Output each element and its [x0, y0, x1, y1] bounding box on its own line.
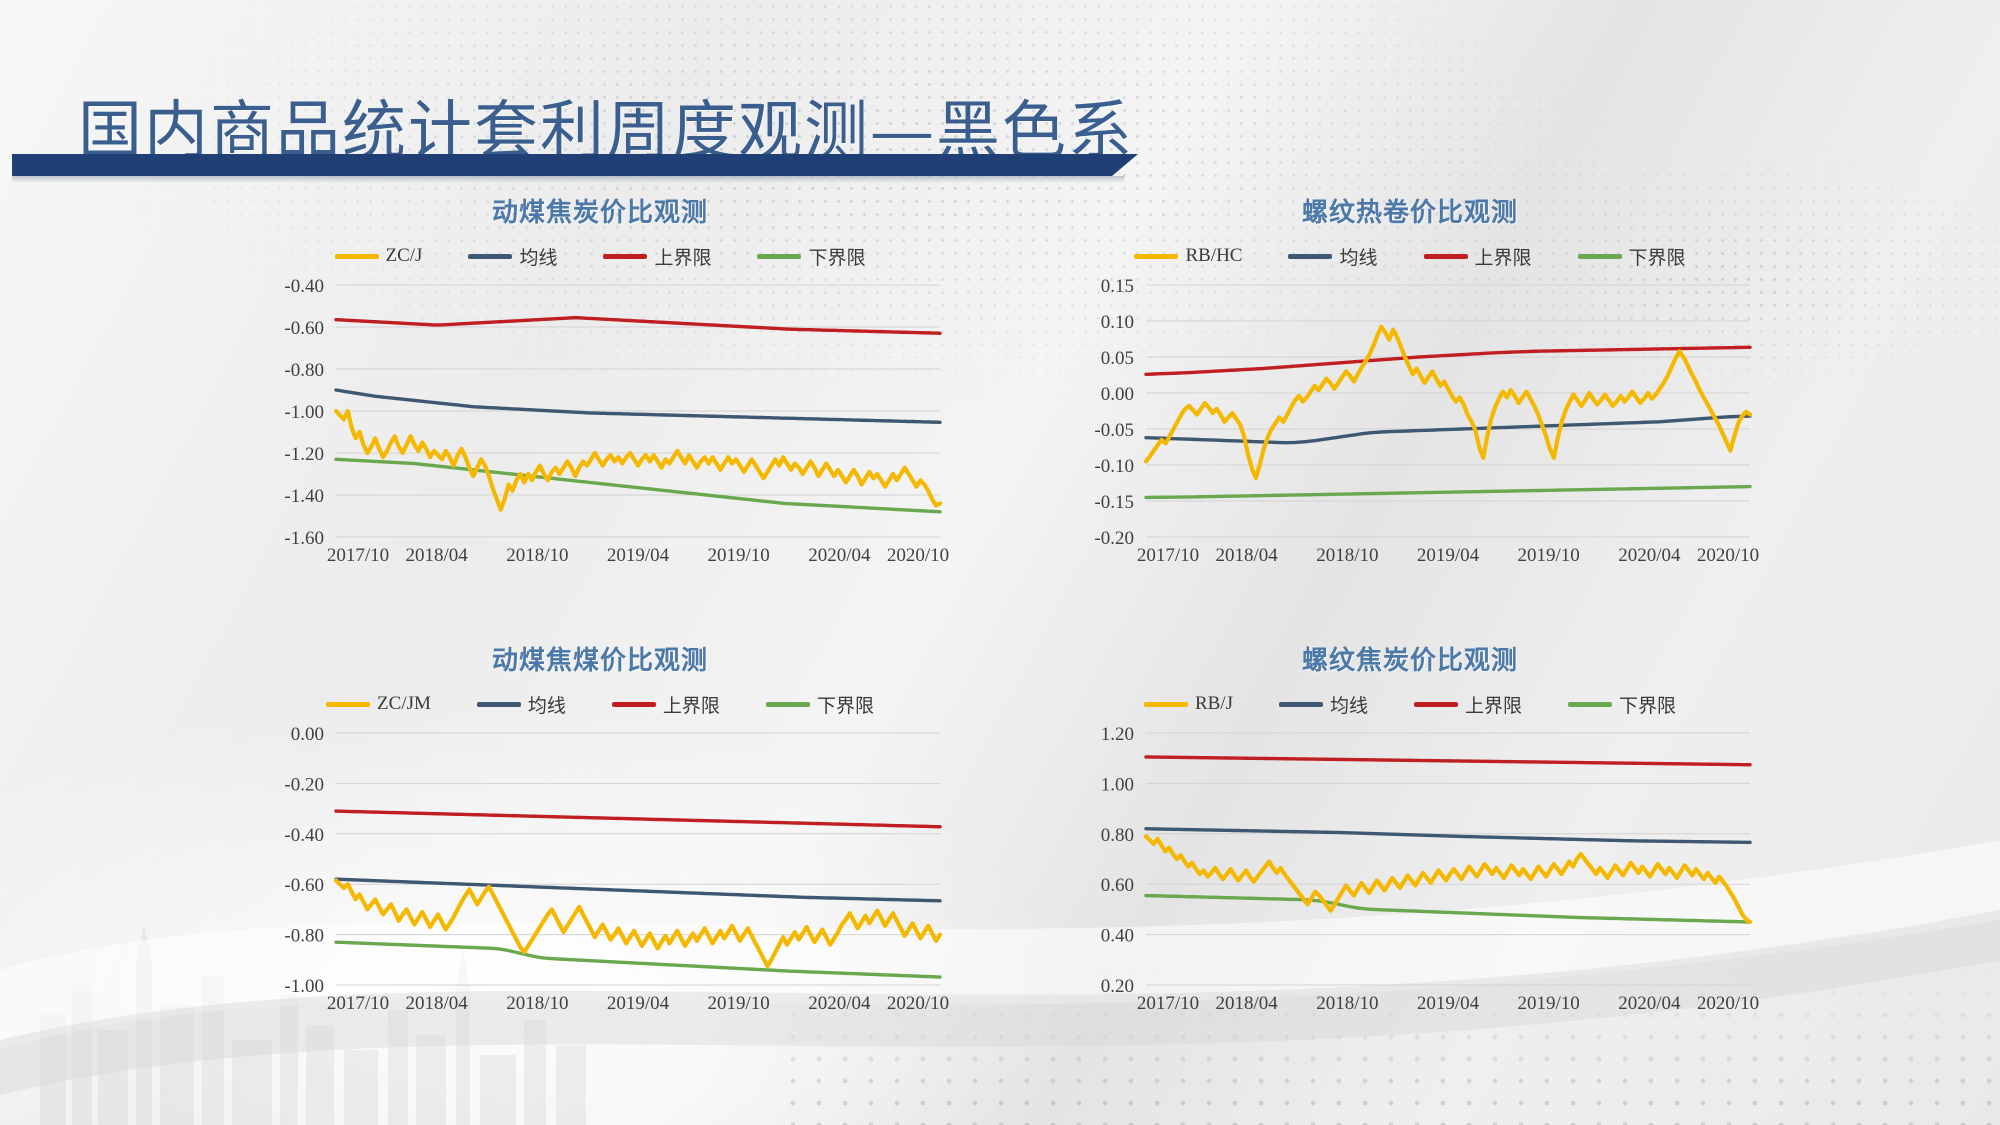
legend-item[interactable]: 均线: [1288, 243, 1377, 270]
legend-item[interactable]: 上界限: [1424, 243, 1532, 270]
legend-item[interactable]: RB/HC: [1134, 245, 1242, 267]
legend-swatch-icon: [1144, 702, 1188, 707]
y-axis-tick-label: 0.80: [1101, 825, 1134, 846]
legend-swatch-icon: [1414, 702, 1458, 707]
chart-plot-area: -0.40-0.60-0.80-1.00-1.20-1.40-1.602017/…: [250, 277, 950, 567]
y-axis-tick-label: 0.00: [1101, 384, 1134, 405]
legend-item[interactable]: 上界限: [612, 691, 720, 718]
legend-swatch-icon: [468, 254, 512, 259]
y-axis-tick-label: 0.05: [1101, 348, 1134, 369]
y-axis-tick-label: -0.80: [284, 926, 324, 947]
chart-plot-area: 1.201.000.800.600.400.202017/102018/0420…: [1060, 725, 1760, 1015]
series-line-rb-j: [1146, 836, 1750, 922]
y-axis-tick-label: 0.15: [1101, 276, 1134, 297]
legend-item[interactable]: ZC/JM: [326, 693, 431, 715]
chart-legend: RB/J均线上界限下界限: [1060, 691, 1760, 717]
legend-item[interactable]: 均线: [468, 243, 557, 270]
chart-plot-area: 0.00-0.20-0.40-0.60-0.80-1.002017/102018…: [250, 725, 950, 1015]
chart-block-zc-jm: 动煤焦煤价比观测 ZC/JM均线上界限下界限 0.00-0.20-0.40-0.…: [250, 640, 950, 1015]
y-axis-tick-label: -1.00: [284, 976, 324, 997]
header-accent-bar-shadow: [12, 176, 1124, 183]
x-axis-tick-label: 2019/04: [607, 545, 670, 566]
x-axis-tick-label: 2020/10: [1697, 545, 1759, 566]
legend-swatch-icon: [326, 702, 370, 707]
series-line-上界限: [336, 318, 940, 334]
series-line-上界限: [336, 811, 940, 827]
y-axis-tick-label: -1.40: [284, 486, 324, 507]
x-axis-tick-label: 2018/04: [1216, 993, 1279, 1014]
x-axis-tick-label: 2017/10: [327, 993, 389, 1014]
legend-swatch-icon: [1288, 254, 1332, 259]
y-axis-tick-label: 1.00: [1101, 774, 1134, 795]
legend-label: 上界限: [654, 243, 711, 270]
legend-swatch-icon: [766, 702, 810, 707]
legend-label: RB/J: [1195, 693, 1233, 715]
legend-swatch-icon: [1424, 254, 1468, 259]
chart-legend: ZC/J均线上界限下界限: [250, 243, 950, 269]
legend-label: 下界限: [1619, 691, 1676, 718]
presentation-slide: 国内商品统计套利周度观测—黑色系 动煤焦炭价比观测 ZC/J均线上界限下界限 -…: [0, 0, 2000, 1125]
legend-swatch-icon: [603, 254, 647, 259]
x-axis-tick-label: 2018/10: [506, 993, 568, 1014]
legend-label: 下界限: [1629, 243, 1686, 270]
series-line-下界限: [1146, 487, 1750, 498]
legend-item[interactable]: 下界限: [757, 243, 865, 270]
x-axis-tick-label: 2019/10: [708, 993, 770, 1014]
chart-svg: 1.201.000.800.600.400.202017/102018/0420…: [1060, 725, 1760, 1015]
legend-swatch-icon: [477, 702, 521, 707]
x-axis-tick-label: 2017/10: [327, 545, 389, 566]
y-axis-tick-label: -0.40: [284, 276, 324, 297]
x-axis-tick-label: 2017/10: [1137, 993, 1199, 1014]
series-line-下界限: [1146, 896, 1750, 922]
x-axis-tick-label: 2019/04: [1417, 993, 1480, 1014]
chart-block-rb-j: 螺纹焦炭价比观测 RB/J均线上界限下界限 1.201.000.800.600.…: [1060, 640, 1760, 1015]
chart-title: 动煤焦炭价比观测: [250, 192, 950, 229]
y-axis-tick-label: -1.20: [284, 444, 324, 465]
y-axis-tick-label: -0.20: [284, 774, 324, 795]
x-axis-tick-label: 2020/10: [887, 993, 949, 1014]
legend-label: 均线: [1330, 691, 1368, 718]
y-axis-tick-label: 0.20: [1101, 976, 1134, 997]
x-axis-tick-label: 2019/04: [607, 993, 670, 1014]
header-accent-bar-tail: [1112, 154, 1138, 176]
series-line-上界限: [1146, 347, 1750, 374]
chart-title: 动煤焦煤价比观测: [250, 640, 950, 677]
chart-title: 螺纹热卷价比观测: [1060, 192, 1760, 229]
slide-header: 国内商品统计套利周度观测—黑色系: [0, 36, 1420, 146]
x-axis-tick-label: 2019/10: [1518, 993, 1580, 1014]
chart-svg: 0.150.100.050.00-0.05-0.10-0.15-0.202017…: [1060, 277, 1760, 567]
y-axis-tick-label: -0.20: [1094, 528, 1134, 549]
header-accent-bar: [12, 154, 1112, 176]
x-axis-tick-label: 2019/10: [1518, 545, 1580, 566]
y-axis-tick-label: 0.40: [1101, 926, 1134, 947]
chart-plot-area: 0.150.100.050.00-0.05-0.10-0.15-0.202017…: [1060, 277, 1760, 567]
x-axis-tick-label: 2020/10: [887, 545, 949, 566]
legend-swatch-icon: [335, 254, 379, 259]
chart-svg: -0.40-0.60-0.80-1.00-1.20-1.40-1.602017/…: [250, 277, 950, 567]
legend-item[interactable]: 下界限: [1578, 243, 1686, 270]
y-axis-tick-label: -0.05: [1094, 420, 1134, 441]
legend-item[interactable]: 下界限: [1568, 691, 1676, 718]
legend-label: ZC/JM: [377, 693, 431, 715]
legend-label: 下界限: [817, 691, 874, 718]
legend-label: 上界限: [663, 691, 720, 718]
chart-svg: 0.00-0.20-0.40-0.60-0.80-1.002017/102018…: [250, 725, 950, 1015]
series-line-均线: [1146, 829, 1750, 843]
legend-label: 上界限: [1465, 691, 1522, 718]
series-line-均线: [336, 390, 940, 422]
x-axis-tick-label: 2020/04: [1618, 993, 1681, 1014]
series-line-上界限: [1146, 757, 1750, 765]
chart-block-zc-j: 动煤焦炭价比观测 ZC/J均线上界限下界限 -0.40-0.60-0.80-1.…: [250, 192, 950, 567]
y-axis-tick-label: -0.15: [1094, 492, 1134, 513]
y-axis-tick-label: -0.60: [284, 318, 324, 339]
legend-item[interactable]: 上界限: [603, 243, 711, 270]
legend-swatch-icon: [1578, 254, 1622, 259]
legend-item[interactable]: ZC/J: [335, 245, 423, 267]
y-axis-tick-label: 0.00: [291, 724, 324, 745]
legend-item[interactable]: RB/J: [1144, 693, 1233, 715]
y-axis-tick-label: -1.60: [284, 528, 324, 549]
legend-label: 下界限: [808, 243, 865, 270]
y-axis-tick-label: -0.10: [1094, 456, 1134, 477]
legend-label: 均线: [1339, 243, 1377, 270]
x-axis-tick-label: 2017/10: [1137, 545, 1199, 566]
series-line-zc-jm: [336, 880, 940, 966]
y-axis-tick-label: 1.20: [1101, 724, 1134, 745]
legend-swatch-icon: [1134, 254, 1178, 259]
series-line-均线: [336, 879, 940, 901]
x-axis-tick-label: 2020/04: [808, 545, 871, 566]
y-axis-tick-label: 0.60: [1101, 875, 1134, 896]
chart-title: 螺纹焦炭价比观测: [1060, 640, 1760, 677]
series-line-下界限: [336, 942, 940, 977]
x-axis-tick-label: 2020/04: [1618, 545, 1681, 566]
y-axis-tick-label: -0.60: [284, 875, 324, 896]
x-axis-tick-label: 2018/10: [1316, 545, 1378, 566]
legend-label: ZC/J: [386, 245, 423, 267]
x-axis-tick-label: 2020/10: [1697, 993, 1759, 1014]
x-axis-tick-label: 2018/04: [406, 545, 469, 566]
x-axis-tick-label: 2019/04: [1417, 545, 1480, 566]
x-axis-tick-label: 2018/04: [1216, 545, 1279, 566]
legend-label: 均线: [528, 691, 566, 718]
legend-item[interactable]: 均线: [1279, 691, 1368, 718]
legend-item[interactable]: 下界限: [766, 691, 874, 718]
legend-swatch-icon: [612, 702, 656, 707]
x-axis-tick-label: 2019/10: [708, 545, 770, 566]
y-axis-tick-label: 0.10: [1101, 312, 1134, 333]
chart-legend: ZC/JM均线上界限下界限: [250, 691, 950, 717]
x-axis-tick-label: 2018/10: [1316, 993, 1378, 1014]
legend-item[interactable]: 均线: [477, 691, 566, 718]
legend-swatch-icon: [757, 254, 801, 259]
legend-swatch-icon: [1568, 702, 1612, 707]
legend-label: RB/HC: [1185, 245, 1242, 267]
y-axis-tick-label: -1.00: [284, 402, 324, 423]
chart-block-rb-hc: 螺纹热卷价比观测 RB/HC均线上界限下界限 0.150.100.050.00-…: [1060, 192, 1760, 567]
legend-label: 上界限: [1475, 243, 1532, 270]
legend-swatch-icon: [1279, 702, 1323, 707]
x-axis-tick-label: 2018/04: [406, 993, 469, 1014]
legend-item[interactable]: 上界限: [1414, 691, 1522, 718]
y-axis-tick-label: -0.40: [284, 825, 324, 846]
chart-legend: RB/HC均线上界限下界限: [1060, 243, 1760, 269]
legend-label: 均线: [519, 243, 557, 270]
x-axis-tick-label: 2020/04: [808, 993, 871, 1014]
y-axis-tick-label: -0.80: [284, 360, 324, 381]
x-axis-tick-label: 2018/10: [506, 545, 568, 566]
